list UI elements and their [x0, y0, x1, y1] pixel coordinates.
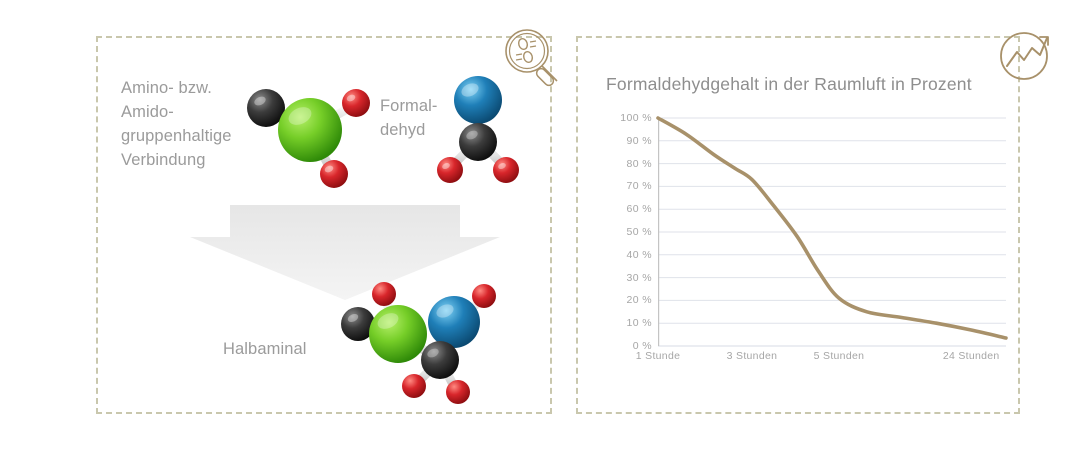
x-axis-tick-labels: 1 Stunde3 Stunden5 Stunden24 Stunden — [658, 350, 1006, 372]
chart-title: Formaldehydgehalt in der Raumluft in Pro… — [606, 74, 972, 95]
chart: 100 %90 %80 %70 %60 %50 %40 %30 %20 %10 … — [600, 118, 1006, 386]
y-tick-label: 50 % — [626, 226, 652, 238]
y-tick-label: 30 % — [626, 272, 652, 284]
y-tick-label: 40 % — [626, 249, 652, 261]
x-tick-label: 1 Stunde — [636, 350, 680, 362]
y-tick-label: 60 % — [626, 203, 652, 215]
data-series-line — [658, 118, 1006, 338]
y-axis-tick-labels: 100 %90 %80 %70 %60 %50 %40 %30 %20 %10 … — [600, 118, 652, 346]
infographic-canvas: Amino- bzw. Amido- gruppenhaltige Verbin… — [0, 0, 1080, 462]
y-tick-label: 20 % — [626, 294, 652, 306]
y-tick-label: 100 % — [620, 112, 652, 124]
y-tick-label: 90 % — [626, 135, 652, 147]
y-tick-label: 70 % — [626, 180, 652, 192]
trend-circle-icon — [990, 22, 1062, 94]
x-tick-label: 3 Stunden — [727, 350, 778, 362]
x-tick-label: 5 Stunden — [814, 350, 865, 362]
halbaminal-molecule — [328, 272, 514, 404]
x-tick-label: 24 Stunden — [943, 350, 1000, 362]
plot-area — [658, 118, 1006, 346]
amino-compound-molecule — [236, 78, 388, 196]
y-tick-label: 80 % — [626, 158, 652, 170]
y-tick-label: 10 % — [626, 317, 652, 329]
magnifier-germ-icon — [497, 22, 569, 94]
